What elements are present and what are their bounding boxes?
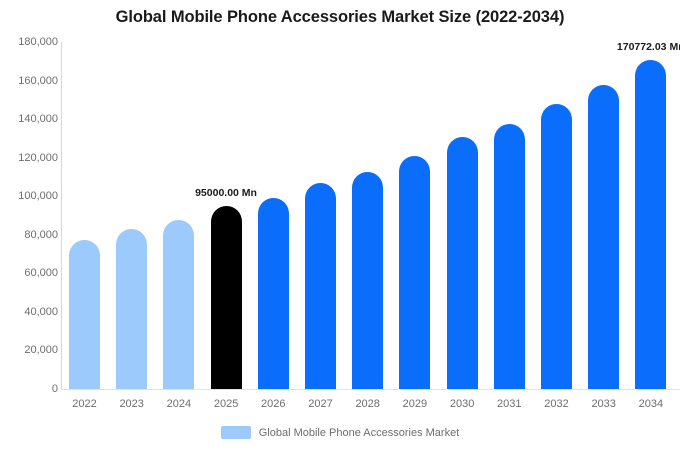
bar-column[interactable]	[211, 42, 242, 389]
chart-legend: Global Mobile Phone Accessories Market	[0, 426, 680, 439]
x-axis-tick-label: 2034	[621, 398, 680, 410]
bar-2032[interactable]	[541, 104, 572, 389]
bar-column[interactable]	[352, 42, 383, 389]
bar-2023[interactable]	[116, 229, 147, 389]
bar-2026[interactable]	[258, 198, 289, 389]
bar-column[interactable]	[541, 42, 572, 389]
y-axis-tick-label: 20,000	[2, 344, 58, 356]
bar-column[interactable]	[447, 42, 478, 389]
y-axis: 180,000160,000140,000120,000100,00080,00…	[0, 0, 58, 450]
bar-chart: Global Mobile Phone Accessories Market S…	[0, 0, 680, 450]
bar-2028[interactable]	[352, 172, 383, 389]
bar-column[interactable]	[69, 42, 100, 389]
x-axis-baseline	[61, 389, 680, 390]
bar-2033[interactable]	[588, 85, 619, 389]
chart-title: Global Mobile Phone Accessories Market S…	[0, 8, 680, 27]
y-axis-tick-label: 120,000	[2, 152, 58, 164]
bar-column[interactable]	[494, 42, 525, 389]
y-axis-tick-label: 80,000	[2, 229, 58, 241]
bar-2022[interactable]	[69, 240, 100, 389]
bar-column[interactable]	[258, 42, 289, 389]
bar-column[interactable]	[399, 42, 430, 389]
y-axis-tick-label: 140,000	[2, 113, 58, 125]
bar-2030[interactable]	[447, 137, 478, 389]
bar-column[interactable]	[163, 42, 194, 389]
y-axis-tick-label: 180,000	[2, 36, 58, 48]
y-axis-tick-label: 100,000	[2, 190, 58, 202]
y-axis-tick-label: 60,000	[2, 267, 58, 279]
bar-column[interactable]	[116, 42, 147, 389]
bar-data-label-2025: 95000.00 Mn	[195, 187, 257, 199]
bar-2025[interactable]	[211, 206, 242, 389]
bar-2034[interactable]	[635, 60, 666, 389]
legend-item-global-mobile-phone-accessories-market[interactable]: Global Mobile Phone Accessories Market	[221, 426, 460, 439]
bar-data-label-2034: 170772.03 Mn	[617, 41, 680, 53]
bar-2029[interactable]	[399, 156, 430, 389]
y-axis-tick-label: 160,000	[2, 75, 58, 87]
legend-item-label: Global Mobile Phone Accessories Market	[259, 427, 460, 439]
bar-column[interactable]	[588, 42, 619, 389]
y-axis-tick-label: 40,000	[2, 306, 58, 318]
bar-2027[interactable]	[305, 183, 336, 389]
plot-area	[62, 42, 680, 389]
legend-swatch-icon	[221, 426, 251, 439]
y-axis-tick-label: 0	[2, 383, 58, 395]
bar-2024[interactable]	[163, 220, 194, 389]
bar-column[interactable]	[635, 42, 666, 389]
bar-2031[interactable]	[494, 124, 525, 389]
bar-column[interactable]	[305, 42, 336, 389]
